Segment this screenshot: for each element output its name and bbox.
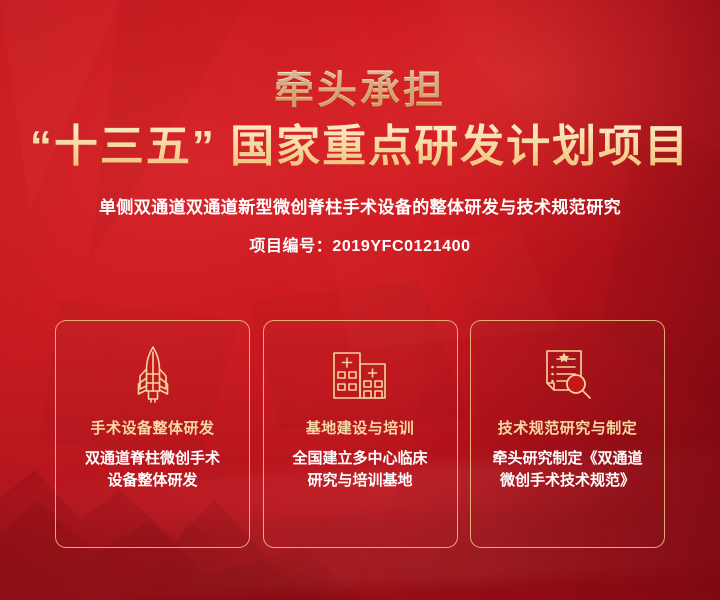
hospital-building-icon [330,345,390,403]
card-description: 双通道脊柱微创手术 设备整体研发 [75,448,230,492]
card-description: 全国建立多中心临床 研究与培训基地 [282,448,437,492]
card-title: 基地建设与培训 [306,421,415,436]
banner-header: 牵头承担 “十三五” 国家重点研发计划项目 单侧双通道双通道新型微创脊柱手术设备… [0,70,720,256]
feature-card[interactable]: 基地建设与培训 全国建立多中心临床 研究与培训基地 [263,320,458,548]
feature-card[interactable]: 手术设备整体研发 双通道脊柱微创手术 设备整体研发 [55,320,250,548]
card-description: 牵头研究制定《双通道 微创手术技术规范》 [482,448,652,492]
card-title: 技术规范研究与制定 [498,421,638,436]
feature-card-list: 手术设备整体研发 双通道脊柱微创手术 设备整体研发 [55,320,665,548]
promotional-banner: 牵头承担 “十三五” 国家重点研发计划项目 单侧双通道双通道新型微创脊柱手术设备… [0,0,720,600]
document-magnifier-icon [541,345,595,403]
project-number: 项目编号：2019YFC0121400 [0,232,720,256]
feature-card[interactable]: 技术规范研究与制定 牵头研究制定《双通道 微创手术技术规范》 [470,320,665,548]
heading-secondary: “十三五” 国家重点研发计划项目 [0,122,720,171]
card-title: 手术设备整体研发 [90,421,214,436]
heading-primary: 牵头承担 [0,70,720,110]
project-subtitle: 单侧双通道双通道新型微创脊柱手术设备的整体研发与技术规范研究 [0,197,720,219]
rocket-icon [132,345,174,403]
